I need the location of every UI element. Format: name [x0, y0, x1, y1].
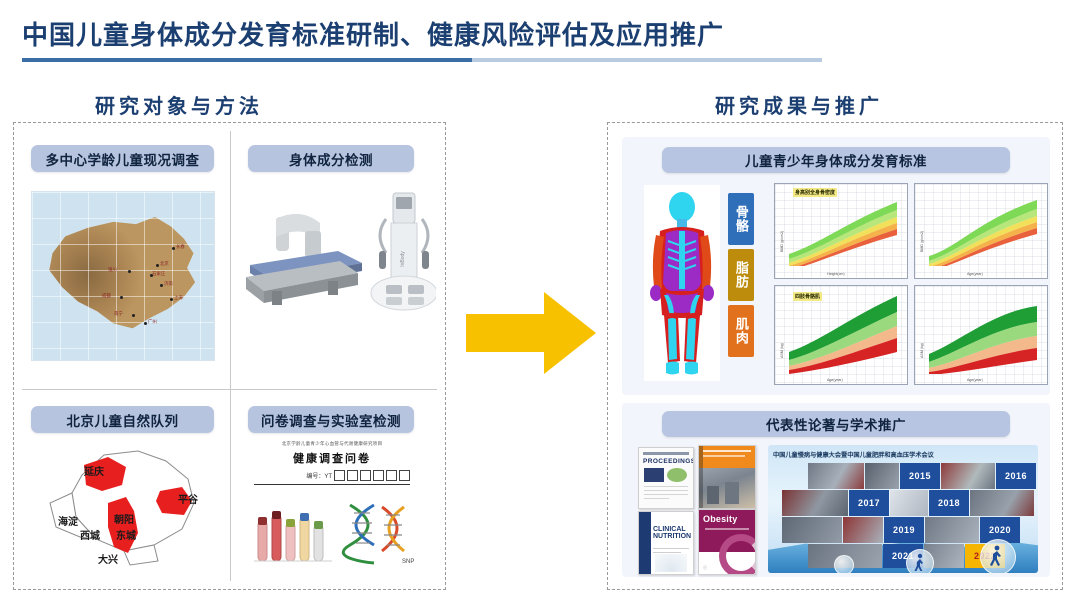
- chart-1-title: 身高别全身骨密度: [793, 188, 837, 197]
- publications-card: 代表性论著与学术推广 PROCEEDINGS CLINICAL NUTRITIO…: [622, 403, 1050, 577]
- left-panel: 多中心学龄儿童现况调查 身体成分检测 北京儿童自然队列 问卷调查与实验室检测 长…: [13, 122, 446, 590]
- composition-tag-bone: 骨骼: [728, 193, 754, 245]
- chart-3-title: 四肢骨骼肌: [793, 292, 822, 301]
- map-city-dot: [160, 284, 163, 287]
- chart-3-ylabel: ASM (kg): [780, 343, 784, 358]
- map-graticule: [32, 192, 214, 360]
- map-city-label: 上海: [174, 295, 183, 301]
- conference-photo: [865, 463, 899, 489]
- svg-text:InBody: InBody: [400, 251, 406, 267]
- conference-year-2017: 2017: [849, 490, 889, 516]
- composition-tag-muscle: 肌肉: [728, 305, 754, 357]
- journal-title-proceedings: PROCEEDINGS: [643, 458, 689, 465]
- section-heading-left: 研究对象与方法: [95, 90, 263, 119]
- questionnaire-number-label: 编号：YT: [306, 471, 332, 480]
- conference-year-2019: 2019: [884, 517, 924, 543]
- conference-year-2018: 2018: [929, 490, 969, 516]
- montage-athlete-icon: [990, 545, 1004, 567]
- composition-tag-muscle-label: 肌肉: [734, 317, 748, 345]
- map-city-label: 广州: [148, 319, 157, 325]
- page-title: 中国儿童身体成分发育标准研制、健康风险评估及应用推广: [22, 20, 1062, 51]
- questionnaire-checkbox[interactable]: [399, 470, 410, 481]
- growth-chart-3: 四肢骨骼肌 ASM (kg) Age(year): [774, 285, 908, 385]
- map-city-dot: [172, 247, 175, 250]
- svg-text:SNP: SNP: [402, 559, 414, 565]
- chart-1-ylabel: BMD (g/cm2): [780, 231, 784, 252]
- map-city-label: 济南: [164, 281, 173, 287]
- composition-tag-bone-label: 骨骼: [734, 205, 748, 233]
- map-city-label: 石家庄: [152, 271, 165, 277]
- questionnaire-rule: [254, 484, 410, 485]
- questionnaire-checkbox[interactable]: [373, 470, 384, 481]
- blood-collection-tubes-image: [252, 505, 334, 567]
- conference-photo: [782, 490, 848, 516]
- conference-photo: [843, 517, 883, 543]
- conference-photo: [890, 490, 928, 516]
- map-city-dot: [132, 314, 135, 317]
- growth-chart-1: 身高别全身骨密度 BMD (g/cm2) Height(cm): [774, 183, 908, 279]
- conference-montage: 中国儿童慢病与健康大会暨中国儿童肥胖和高血压学术会议 2015 2016 201…: [768, 445, 1038, 573]
- inbody-analyzer-image: InBody: [366, 189, 436, 315]
- map-city-dot: [156, 264, 159, 267]
- journal-title-clinical-nutrition: CLINICAL NUTRITION: [653, 526, 689, 540]
- chart-2-xlabel: Age(year): [967, 272, 983, 276]
- chip-growth-standard[interactable]: 儿童青少年身体成分发育标准: [662, 147, 1010, 173]
- chart-2-ylabel: BMD (g/cm2): [920, 231, 924, 252]
- district-label-dongcheng: 东城: [116, 527, 136, 542]
- map-city-dot: [144, 322, 147, 325]
- dxa-whole-body-scan: [644, 185, 720, 381]
- conference-year-2016: 2016: [996, 463, 1036, 489]
- district-label-chaoyang: 朝阳: [114, 511, 134, 526]
- chip-beijing-cohort[interactable]: 北京儿童自然队列: [31, 406, 214, 433]
- panel-divider-horizontal: [22, 389, 437, 390]
- district-label-pinggu: 平谷: [178, 491, 198, 506]
- journal-cover-clinical-nutrition: CLINICAL NUTRITION: [638, 511, 694, 575]
- conference-title: 中国儿童慢病与健康大会暨中国儿童肥胖和高血压学术会议: [773, 450, 934, 459]
- montage-athlete-icon: [914, 553, 926, 571]
- map-city-label: 北京: [160, 261, 169, 267]
- chart-3-xlabel: Age(year): [827, 378, 843, 382]
- questionnaire-checkbox[interactable]: [360, 470, 371, 481]
- composition-tag-fat-label: 脂肪: [734, 261, 748, 289]
- growth-chart-4: ASM (kg) Age(year): [914, 285, 1048, 385]
- district-label-haidian: 海淀: [58, 513, 78, 528]
- chart-2-percentile-bands: [929, 190, 1037, 266]
- map-city-label: 成都: [102, 293, 111, 299]
- map-city-label: 南宁: [114, 311, 123, 317]
- growth-standards-card: 儿童青少年身体成分发育标准: [622, 137, 1050, 395]
- journal-title-obesity: Obesity: [703, 514, 751, 524]
- right-panel: 儿童青少年身体成分发育标准: [607, 122, 1063, 590]
- china-topographic-map: 长春 北京 石家庄 银川 济南 上海 成都 广州 南宁: [31, 191, 215, 361]
- questionnaire-subtitle: 北京学龄儿童青少年心血管与代谢健康研究项目: [254, 441, 410, 447]
- chip-multicenter-survey[interactable]: 多中心学龄儿童现况调查: [31, 145, 214, 172]
- district-label-xicheng: 西城: [80, 527, 100, 542]
- district-label-yanqing: 延庆: [84, 463, 104, 478]
- conference-photo: [970, 490, 1034, 516]
- questionnaire-checkbox[interactable]: [386, 470, 397, 481]
- composition-tag-fat: 脂肪: [728, 249, 754, 301]
- conference-photo: [782, 517, 842, 543]
- journal-cover-obesity: Obesity ⓘ: [698, 509, 756, 575]
- growth-chart-2: BMD (g/cm2) Age(year): [914, 183, 1048, 279]
- montage-orb: [834, 555, 854, 573]
- map-city-label: 银川: [108, 267, 117, 273]
- map-city-label: 长春: [176, 244, 185, 250]
- map-city-dot: [120, 296, 123, 299]
- chip-body-composition[interactable]: 身体成分检测: [248, 145, 414, 172]
- questionnaire-number-row: 编号：YT: [254, 470, 410, 481]
- dxa-scanner-image: [242, 203, 367, 313]
- chart-4-xlabel: Age(year): [967, 378, 983, 382]
- section-heading-right: 研究成果与推广: [715, 90, 883, 119]
- conference-photo: [941, 463, 995, 489]
- journal-cover-proceedings: PROCEEDINGS: [638, 447, 694, 509]
- conference-year-2015: 2015: [900, 463, 940, 489]
- questionnaire-checkbox[interactable]: [334, 470, 345, 481]
- district-label-daxing: 大兴: [98, 551, 118, 566]
- panel-divider-vertical: [230, 131, 231, 581]
- chart-1-xlabel: Height(cm): [827, 272, 845, 276]
- chart-3-percentile-bands: [789, 294, 897, 374]
- chip-publications[interactable]: 代表性论著与学术推广: [662, 411, 1010, 437]
- journal-cover-orange: [698, 445, 756, 509]
- questionnaire-checkbox[interactable]: [347, 470, 358, 481]
- conference-photo: [925, 517, 979, 543]
- title-underline: [22, 58, 822, 62]
- chart-1-percentile-bands: [789, 190, 897, 266]
- title-block: 中国儿童身体成分发育标准研制、健康风险评估及应用推广: [22, 20, 1062, 62]
- chart-4-percentile-bands: [929, 294, 1037, 374]
- questionnaire-form: 北京学龄儿童青少年心血管与代谢健康研究项目 健康调查问卷 编号：YT: [254, 441, 410, 487]
- chip-questionnaire-lab[interactable]: 问卷调查与实验室检测: [248, 406, 414, 433]
- flow-arrow-icon: [466, 288, 596, 378]
- dna-helix-image: SNP: [340, 501, 416, 567]
- map-city-dot: [128, 270, 131, 273]
- map-city-dot: [170, 298, 173, 301]
- chart-4-ylabel: ASM (kg): [920, 343, 924, 358]
- conference-photo: [808, 463, 864, 489]
- questionnaire-title: 健康调查问卷: [254, 450, 410, 466]
